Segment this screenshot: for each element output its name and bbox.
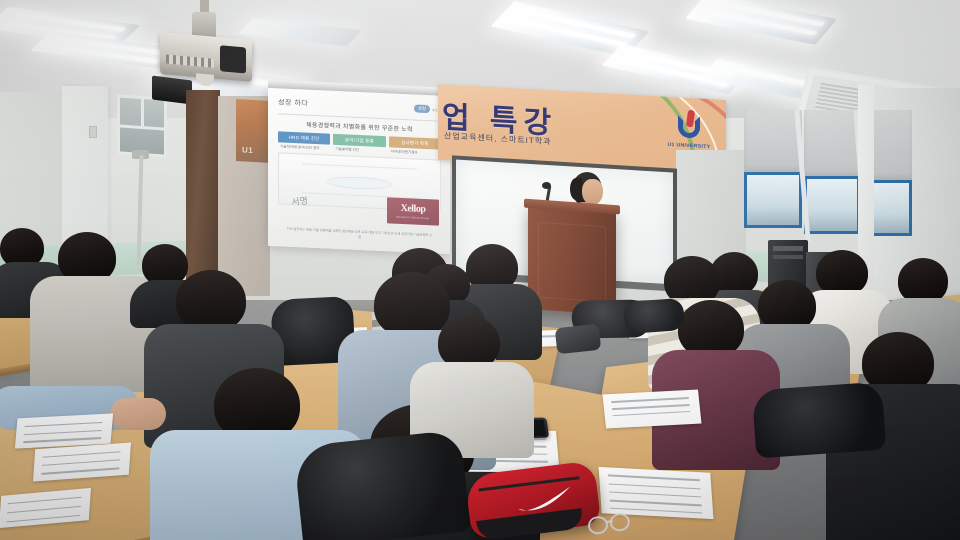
slide-column: HRD·채용 진단 · 기술력/역량 분석/진단 결과 <box>278 131 330 151</box>
projection-screen: 성장 하다 성장 4/12 채용경쟁력과 차별화를 위한 꾸준한 노력 HRD·… <box>268 88 450 254</box>
handout-paper <box>602 389 701 428</box>
window-pane <box>744 172 802 228</box>
slide-badge: 성장 4/12 <box>414 104 440 113</box>
slide-signature: 서명 <box>290 190 353 222</box>
slide-column-header: 심사평가 획득 <box>389 136 441 149</box>
slide-column: 분석/기업 등록 · 기술분야별 진단 <box>333 134 385 154</box>
u1-sign-label: U1 <box>242 145 253 155</box>
student <box>416 316 526 436</box>
slide-column-sub: · 아카데미/평가결과 <box>389 149 441 156</box>
u1-university-logo: U1 UNIVERSITY <box>660 110 718 150</box>
u1-wall-sign: U1 <box>236 99 272 163</box>
slide-column-header: 분석/기업 등록 <box>333 134 385 147</box>
backpack <box>293 429 471 540</box>
slide-badge-pill: 성장 <box>414 104 430 113</box>
slide-column: 심사평가 획득 · 아카데미/평가결과 <box>389 136 441 156</box>
u1-logo-mark <box>674 111 704 143</box>
bag <box>623 298 685 334</box>
microphone-head <box>542 182 551 189</box>
slide-column-sub: · 기술력/역량 분석/진단 결과 <box>278 144 330 151</box>
xellop-wordmark: Xellop <box>401 203 426 214</box>
podium <box>528 205 616 315</box>
roller-blind <box>744 110 802 172</box>
window-pane <box>804 176 860 234</box>
xellop-tagline: Excellent Talent Group <box>397 215 430 219</box>
slide-column-header: HRD·채용 진단 <box>278 131 330 144</box>
pencil-case <box>555 324 601 354</box>
slide-column-sub: · 기술분야별 진단 <box>333 147 385 154</box>
wall-switch-plate[interactable] <box>89 126 97 138</box>
high-transom-window <box>117 94 167 157</box>
xellop-logo: Xellop Excellent Talent Group <box>387 197 439 225</box>
roller-blind <box>804 110 860 176</box>
presentation-slide: 성장 하다 성장 4/12 채용경쟁력과 차별화를 위한 꾸준한 노력 HRD·… <box>278 97 441 245</box>
backpack <box>752 382 886 459</box>
handout-paper <box>15 413 113 448</box>
slide-columns: HRD·채용 진단 · 기술력/역량 분석/진단 결과 분석/기업 등록 · 기… <box>278 131 441 156</box>
classroom-photo: U1 성장 하다 성장 4/12 채용경쟁력과 차별화를 위한 꾸준한 노력 H… <box>0 0 960 540</box>
